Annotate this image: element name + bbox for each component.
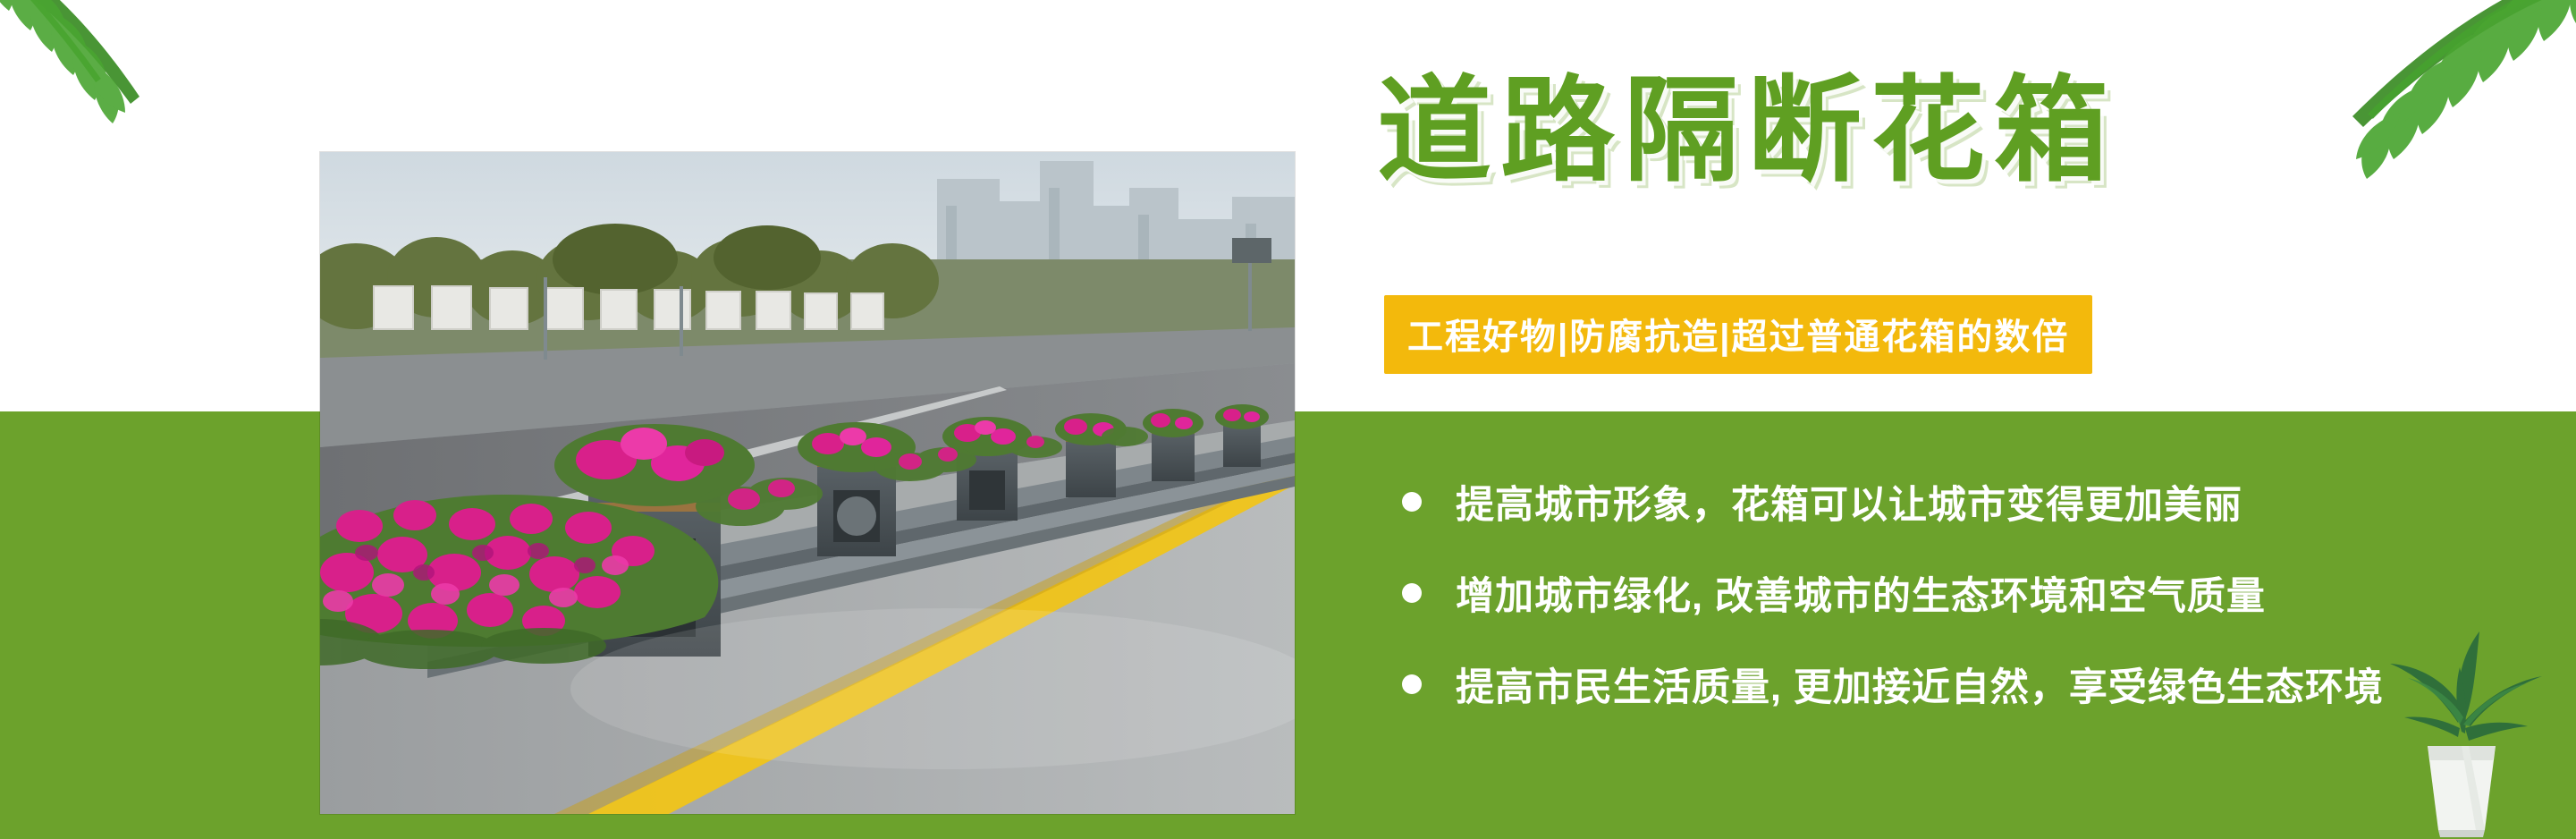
promo-banner: 绿化城市、改善空气、缓解交通压力 道路隔断花箱 工程好物|防腐抗造|超过普通花箱…	[0, 0, 2576, 839]
list-item: 增加城市绿化, 改善城市的生态环境和空气质量	[1377, 547, 2575, 639]
road-divider-flower-boxes-photo: 绿化城市、改善空气、缓解交通压力	[320, 152, 1295, 814]
bullet-dot-icon	[1402, 583, 1422, 603]
list-item-label: 提高市民生活质量, 更加接近自然，享受绿色生态环境	[1456, 657, 2384, 712]
bullet-dot-icon	[1402, 674, 1422, 694]
content-column: 道路隔断花箱 工程好物|防腐抗造|超过普通花箱的数倍 提高城市形象，花箱可以让城…	[1359, 0, 2576, 839]
list-item-label: 提高城市形象，花箱可以让城市变得更加美丽	[1456, 474, 2242, 530]
page-title: 道路隔断花箱	[1377, 72, 2117, 191]
list-item-label: 增加城市绿化, 改善城市的生态环境和空气质量	[1456, 565, 2266, 621]
bullet-dot-icon	[1402, 492, 1422, 512]
list-item: 提高城市形象，花箱可以让城市变得更加美丽	[1377, 456, 2575, 547]
feature-tagline: 工程好物|防腐抗造|超过普通花箱的数倍	[1384, 295, 2092, 374]
benefits-list: 提高城市形象，花箱可以让城市变得更加美丽 增加城市绿化, 改善城市的生态环境和空…	[1377, 456, 2575, 730]
list-item: 提高市民生活质量, 更加接近自然，享受绿色生态环境	[1377, 639, 2575, 730]
